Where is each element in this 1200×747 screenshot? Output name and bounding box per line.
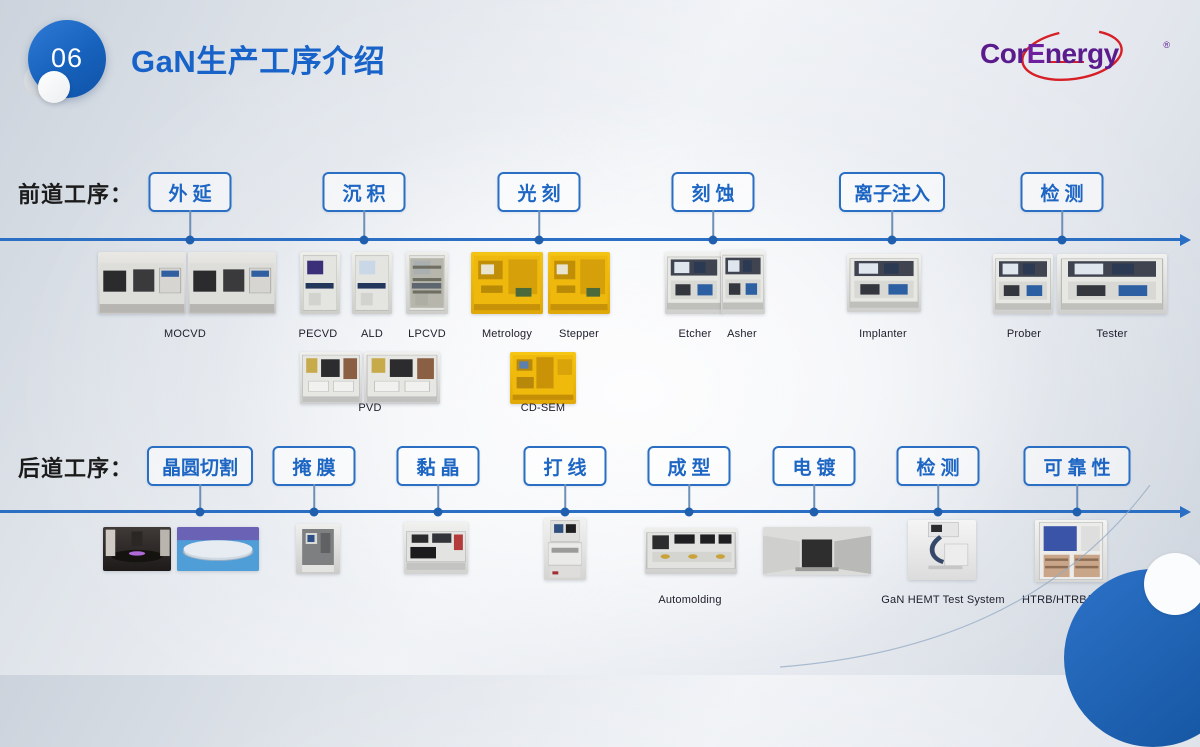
process-step-box[interactable]: 检测 bbox=[896, 446, 979, 486]
process-step-box[interactable]: 电镀 bbox=[772, 446, 855, 486]
equipment-photo-ald bbox=[352, 252, 392, 314]
process-step-node-dot bbox=[360, 235, 369, 244]
equipment-thumbnail[interactable] bbox=[300, 352, 362, 404]
equipment-caption: Stepper bbox=[559, 328, 599, 340]
process-step-label: 电镀 bbox=[787, 453, 840, 480]
equipment-caption: PVD bbox=[358, 402, 381, 414]
logo-text-nergy: nergy bbox=[1045, 38, 1119, 69]
process-step-label: 黏晶 bbox=[411, 453, 464, 480]
process-step-node-dot bbox=[888, 235, 897, 244]
process-step-stem bbox=[1061, 210, 1063, 238]
equipment-photo-pvd-b bbox=[364, 352, 440, 404]
process-step-label: 检测 bbox=[911, 453, 964, 480]
equipment-photo-automold bbox=[645, 528, 737, 574]
corner-white-circle bbox=[1144, 553, 1200, 615]
equipment-thumbnail[interactable] bbox=[471, 252, 543, 314]
process-step-stem bbox=[538, 210, 540, 238]
equipment-caption: ALD bbox=[361, 328, 383, 340]
corenergy-logo: CorEnergy ® bbox=[972, 28, 1172, 86]
equipment-photo-laser-dice bbox=[103, 527, 171, 571]
equipment-thumbnail[interactable] bbox=[847, 254, 921, 312]
equipment-photo-pecvd bbox=[300, 252, 340, 314]
back-process-label: 后道工序： bbox=[18, 451, 133, 483]
process-step-node-dot bbox=[685, 507, 694, 516]
equipment-caption: LPCVD bbox=[408, 328, 446, 340]
process-step-box[interactable]: 沉积 bbox=[322, 172, 405, 212]
process-step-stem bbox=[363, 210, 365, 238]
process-step-node-dot bbox=[186, 235, 195, 244]
equipment-photo-asher bbox=[721, 250, 765, 314]
process-step-box[interactable]: 晶圆切割 bbox=[147, 446, 253, 486]
equipment-caption: PECVD bbox=[299, 328, 338, 340]
equipment-photo-cdsem bbox=[510, 352, 576, 404]
equipment-thumbnail[interactable] bbox=[352, 252, 392, 314]
equipment-caption: Metrology bbox=[482, 328, 532, 340]
equipment-thumbnail[interactable] bbox=[665, 252, 723, 314]
process-step-node-dot bbox=[535, 235, 544, 244]
equipment-thumbnail[interactable] bbox=[406, 252, 448, 314]
process-step-label: 离子注入 bbox=[854, 179, 930, 206]
equipment-caption: MOCVD bbox=[164, 328, 206, 340]
logo-wordmark: CorEnergy bbox=[980, 38, 1119, 70]
section-number: 06 bbox=[28, 43, 106, 74]
process-step-label: 刻蚀 bbox=[686, 179, 739, 206]
process-step-stem bbox=[891, 210, 893, 238]
equipment-caption: Tester bbox=[1096, 328, 1127, 340]
process-step-stem bbox=[712, 210, 714, 238]
equipment-photo-wafer bbox=[177, 527, 259, 571]
process-step-stem bbox=[189, 210, 191, 238]
process-step-label: 沉积 bbox=[337, 179, 390, 206]
equipment-thumbnail[interactable] bbox=[300, 252, 340, 314]
process-step-box[interactable]: 光刻 bbox=[497, 172, 580, 212]
process-step-node-dot bbox=[196, 507, 205, 516]
equipment-thumbnail[interactable] bbox=[188, 252, 276, 314]
process-step-box[interactable]: 检测 bbox=[1020, 172, 1103, 212]
process-step-node-dot bbox=[709, 235, 718, 244]
equipment-photo-mocvd-b bbox=[188, 252, 276, 314]
process-step-node-dot bbox=[561, 507, 570, 516]
process-step-box[interactable]: 刻蚀 bbox=[671, 172, 754, 212]
equipment-photo-yellow-b bbox=[548, 252, 610, 314]
process-step-box[interactable]: 打线 bbox=[523, 446, 606, 486]
equipment-thumbnail[interactable] bbox=[544, 518, 586, 580]
equipment-thumbnail[interactable] bbox=[993, 254, 1053, 314]
front-process-axis bbox=[0, 238, 1182, 241]
equipment-thumbnail[interactable] bbox=[721, 250, 765, 314]
process-step-box[interactable]: 可靠性 bbox=[1023, 446, 1130, 486]
equipment-thumbnail[interactable] bbox=[296, 524, 340, 574]
process-step-box[interactable]: 外延 bbox=[148, 172, 231, 212]
process-step-label: 检测 bbox=[1035, 179, 1088, 206]
process-step-node-dot bbox=[310, 507, 319, 516]
equipment-caption: Prober bbox=[1007, 328, 1041, 340]
equipment-thumbnail[interactable] bbox=[1057, 254, 1167, 314]
equipment-photo-mocvd-a bbox=[98, 252, 186, 314]
equipment-caption: CD-SEM bbox=[521, 402, 566, 414]
process-step-label: 成型 bbox=[662, 453, 715, 480]
equipment-photo-implanter bbox=[847, 254, 921, 312]
logo-text-e: E bbox=[1027, 38, 1045, 69]
equipment-caption: Etcher bbox=[679, 328, 712, 340]
process-step-node-dot bbox=[1058, 235, 1067, 244]
equipment-thumbnail[interactable] bbox=[364, 352, 440, 404]
process-step-label: 可靠性 bbox=[1038, 453, 1115, 480]
equipment-caption: Implanter bbox=[859, 328, 907, 340]
process-step-label: 外延 bbox=[163, 179, 216, 206]
process-step-box[interactable]: 掩膜 bbox=[272, 446, 355, 486]
process-step-box[interactable]: 离子注入 bbox=[839, 172, 945, 212]
equipment-photo-tester bbox=[1057, 254, 1167, 314]
equipment-caption: Asher bbox=[727, 328, 757, 340]
logo-text-cor: Cor bbox=[980, 38, 1027, 69]
equipment-thumbnail[interactable] bbox=[510, 352, 576, 404]
equipment-thumbnail[interactable] bbox=[177, 527, 259, 571]
front-axis-arrow-icon bbox=[1180, 234, 1191, 246]
process-step-label: 打线 bbox=[538, 453, 591, 480]
process-step-label: 晶圆切割 bbox=[162, 453, 238, 480]
equipment-photo-wirebond bbox=[544, 518, 586, 580]
equipment-photo-etcher bbox=[665, 252, 723, 314]
equipment-photo-pvd-a bbox=[300, 352, 362, 404]
equipment-thumbnail[interactable] bbox=[103, 527, 171, 571]
equipment-thumbnail[interactable] bbox=[404, 522, 468, 574]
equipment-thumbnail[interactable] bbox=[645, 528, 737, 574]
process-step-label: 光刻 bbox=[512, 179, 565, 206]
equipment-photo-mask-mc bbox=[296, 524, 340, 574]
front-process-label: 前道工序： bbox=[18, 177, 133, 209]
logo-registered-mark: ® bbox=[1163, 40, 1170, 50]
equipment-caption: Automolding bbox=[658, 594, 721, 606]
process-step-box[interactable]: 成型 bbox=[647, 446, 730, 486]
equipment-thumbnail[interactable] bbox=[98, 252, 186, 314]
equipment-photo-prober bbox=[993, 254, 1053, 314]
page-title: GaN生产工序介绍 bbox=[131, 36, 385, 81]
process-step-label: 掩膜 bbox=[287, 453, 340, 480]
process-step-box[interactable]: 黏晶 bbox=[396, 446, 479, 486]
equipment-photo-lpcvd bbox=[406, 252, 448, 314]
equipment-thumbnail[interactable] bbox=[548, 252, 610, 314]
process-step-node-dot bbox=[434, 507, 443, 516]
equipment-photo-diebond bbox=[404, 522, 468, 574]
badge-accent-dot bbox=[38, 71, 70, 103]
equipment-photo-yellow-a bbox=[471, 252, 543, 314]
